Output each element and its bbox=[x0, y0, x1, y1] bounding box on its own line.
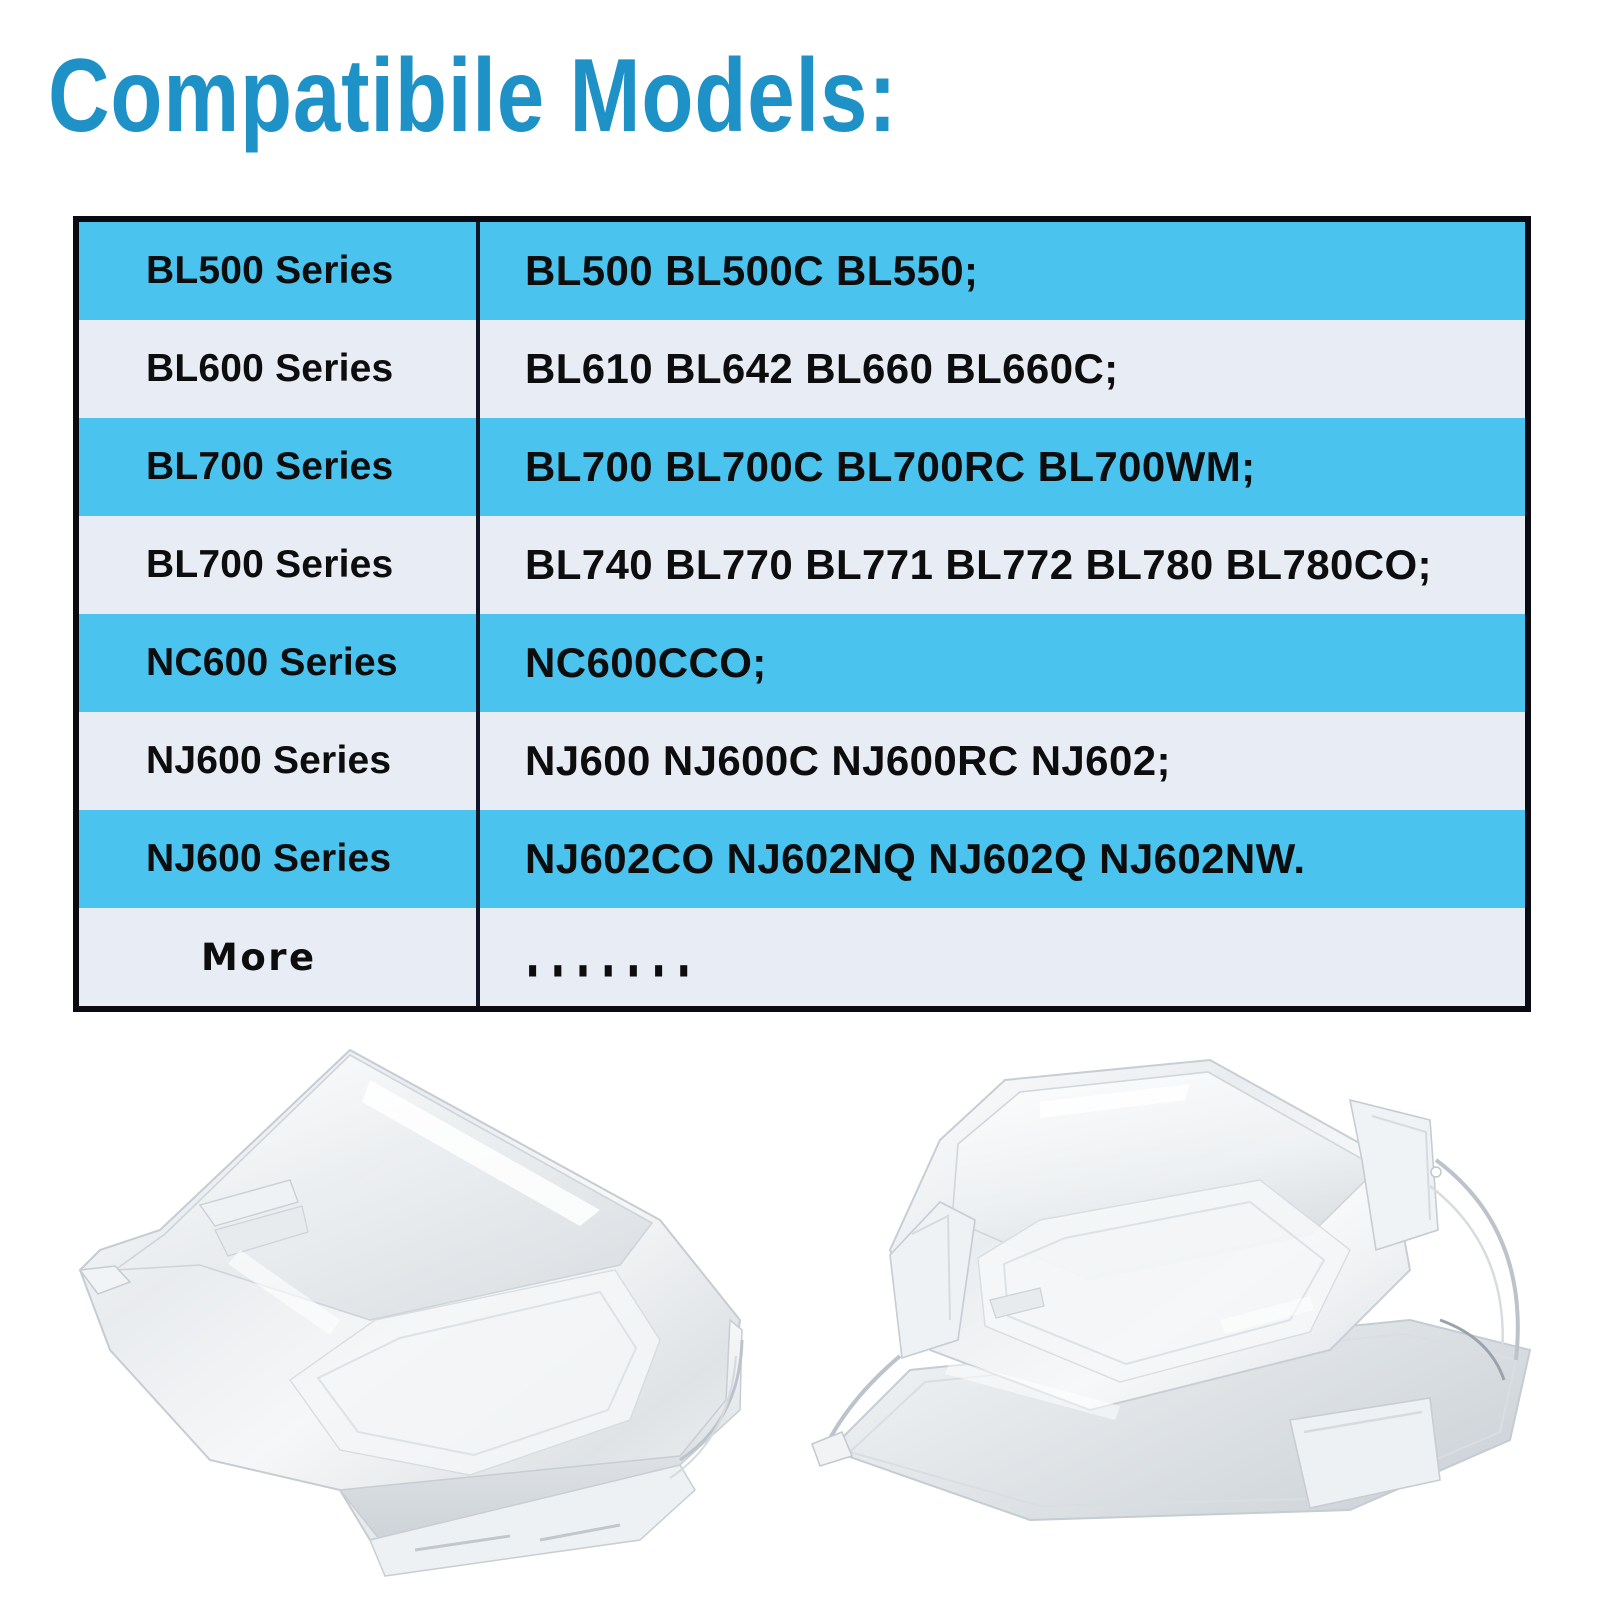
models-label: BL740 BL770 BL771 BL772 BL780 BL780CO; bbox=[525, 541, 1432, 589]
page-title: Compatibile Models: bbox=[48, 44, 897, 148]
table-cell-models: BL700 BL700C BL700RC BL700WM; bbox=[480, 418, 1525, 516]
table-cell-series: NJ600 Series bbox=[79, 712, 480, 810]
table-cell-models: BL610 BL642 BL660 BL660C; bbox=[480, 320, 1525, 418]
table-cell-models: NJ600 NJ600C NJ600RC NJ602; bbox=[480, 712, 1525, 810]
models-label: BL610 BL642 BL660 BL660C; bbox=[525, 345, 1119, 393]
series-label: NJ600 Series bbox=[146, 739, 391, 783]
table-row: BL700 Series BL740 BL770 BL771 BL772 BL7… bbox=[79, 516, 1525, 614]
table-row: BL700 Series BL700 BL700C BL700RC BL700W… bbox=[79, 418, 1525, 516]
table-cell-series: BL700 Series bbox=[79, 516, 480, 614]
models-label: ....... bbox=[525, 923, 701, 992]
table-cell-models: BL740 BL770 BL771 BL772 BL780 BL780CO; bbox=[480, 516, 1525, 614]
series-label: BL700 Series bbox=[146, 445, 393, 489]
table-cell-models: BL500 BL500C BL550; bbox=[480, 222, 1525, 320]
series-label: More bbox=[146, 936, 317, 979]
series-label: BL500 Series bbox=[146, 249, 393, 293]
models-label: BL700 BL700C BL700RC BL700WM; bbox=[525, 443, 1255, 491]
table-row: NJ600 Series NJ600 NJ600C NJ600RC NJ602; bbox=[79, 712, 1525, 810]
models-label: NJ600 NJ600C NJ600RC NJ602; bbox=[525, 737, 1171, 785]
table-cell-series: BL700 Series bbox=[79, 418, 480, 516]
table-cell-series: BL500 Series bbox=[79, 222, 480, 320]
table-row: BL600 Series BL610 BL642 BL660 BL660C; bbox=[79, 320, 1525, 418]
compatible-models-table: BL500 Series BL500 BL500C BL550; BL600 S… bbox=[73, 216, 1531, 1012]
series-label: NJ600 Series bbox=[146, 837, 391, 881]
series-label: BL600 Series bbox=[146, 347, 393, 391]
models-label: NC600CCO; bbox=[525, 639, 767, 687]
series-label: NC600 Series bbox=[146, 641, 398, 685]
series-label: BL700 Series bbox=[146, 543, 393, 587]
table-row: NC600 Series NC600CCO; bbox=[79, 614, 1525, 712]
table-row: BL500 Series BL500 BL500C BL550; bbox=[79, 222, 1525, 320]
models-label: NJ602CO NJ602NQ NJ602Q NJ602NW. bbox=[525, 835, 1305, 883]
models-label: BL500 BL500C BL550; bbox=[525, 247, 978, 295]
table-cell-models: NJ602CO NJ602NQ NJ602Q NJ602NW. bbox=[480, 810, 1525, 908]
product-image-clear-plastic-blender-lid-front-view bbox=[40, 1020, 800, 1600]
table-cell-series: BL600 Series bbox=[79, 320, 480, 418]
table-row: NJ600 Series NJ602CO NJ602NQ NJ602Q NJ60… bbox=[79, 810, 1525, 908]
table-cell-models: NC600CCO; bbox=[480, 614, 1525, 712]
table-cell-models: ....... bbox=[480, 908, 1525, 1006]
product-gallery bbox=[0, 1020, 1600, 1600]
table-cell-series: NJ600 Series bbox=[79, 810, 480, 908]
product-image-clear-plastic-blender-lid-angled-view bbox=[790, 1020, 1570, 1600]
table-row: More ....... bbox=[79, 908, 1525, 1006]
table-cell-series: NC600 Series bbox=[79, 614, 480, 712]
table-cell-series: More bbox=[79, 908, 480, 1006]
